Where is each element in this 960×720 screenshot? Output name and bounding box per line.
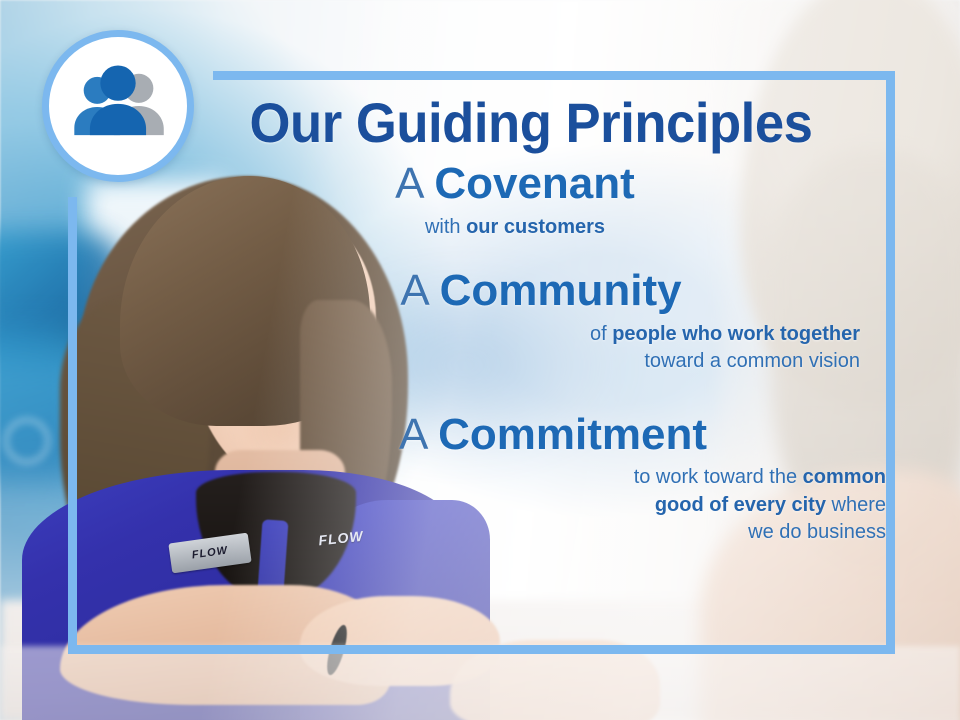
group-of-people-icon: [66, 54, 170, 158]
principle-heading: A Covenant: [180, 160, 850, 208]
principle-heading: A Community: [180, 267, 902, 315]
principle-keyword: Commitment: [438, 410, 707, 459]
people-badge: [42, 30, 194, 182]
principle-subtext-emphasis: good of every city: [655, 494, 826, 516]
principle-subtext-line: we do business: [180, 519, 886, 546]
photo-desk-surface: [0, 646, 960, 720]
principle-subtext-line: with our customers: [180, 214, 850, 241]
principle-article: A: [399, 410, 426, 459]
principle-heading: A Commitment: [180, 411, 926, 459]
principle-subtext-line: toward a common vision: [180, 348, 860, 375]
principle-subtext: to work toward the commongood of every c…: [180, 464, 886, 546]
banner-graphic: FLOW FLOW: [0, 0, 960, 720]
principle-item: A Covenantwith our customers: [180, 160, 882, 241]
principles-list: A Covenantwith our customersA Communityo…: [180, 160, 882, 546]
principle-subtext-line: good of every city where: [180, 492, 886, 519]
principle-article: A: [400, 266, 427, 315]
principle-subtext-emphasis: common: [803, 466, 886, 488]
principle-subtext-plain: to work toward the: [634, 466, 803, 488]
principle-article: A: [395, 159, 422, 208]
principle-subtext-plain: with: [425, 216, 466, 238]
principle-subtext-emphasis: people who work together: [612, 323, 860, 345]
principle-subtext: of people who work togethertoward a comm…: [180, 321, 860, 375]
principle-item: A Communityof people who work togetherto…: [180, 267, 882, 375]
page-title: Our Guiding Principles: [201, 93, 861, 152]
principle-keyword: Covenant: [434, 159, 634, 208]
principle-subtext-plain: we do business: [748, 521, 886, 543]
principle-item: A Commitmentto work toward the commongoo…: [180, 411, 882, 546]
principle-keyword: Community: [440, 266, 682, 315]
photo-blurred-logo: [4, 418, 50, 464]
principle-subtext-emphasis: our customers: [466, 216, 605, 238]
principle-subtext-plain: toward a common vision: [644, 350, 860, 372]
principle-subtext-line: of people who work together: [180, 321, 860, 348]
text-content: Our Guiding Principles A Covenantwith ou…: [180, 80, 896, 640]
principle-subtext: with our customers: [180, 214, 850, 241]
principle-subtext-plain: of: [590, 323, 612, 345]
principle-subtext-line: to work toward the common: [180, 464, 886, 491]
principle-subtext-plain: where: [826, 494, 886, 516]
